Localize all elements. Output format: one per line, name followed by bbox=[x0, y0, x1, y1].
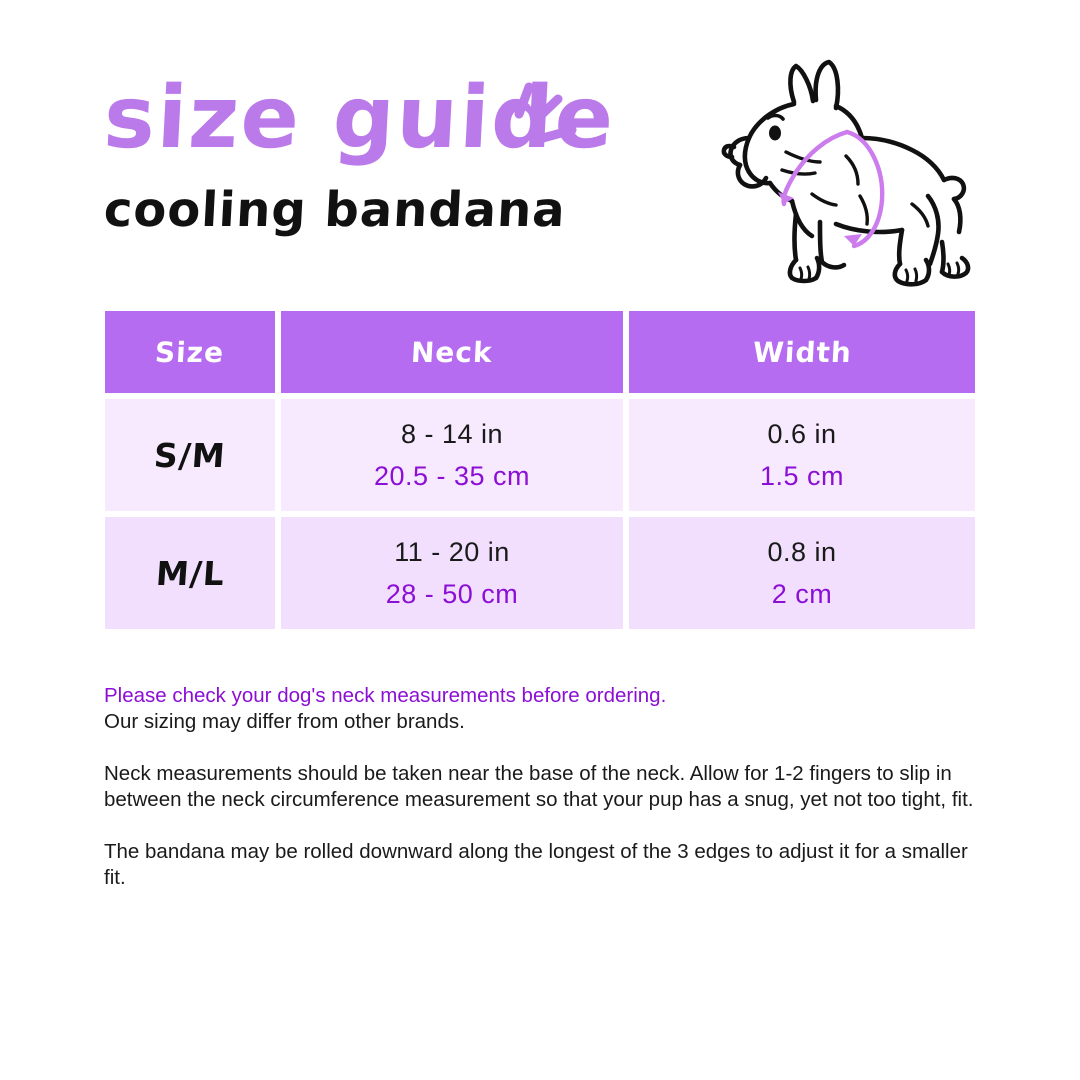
cell-size: M/L bbox=[105, 517, 275, 629]
cell-width: 0.8 in 2 cm bbox=[629, 517, 975, 629]
column-header-width: Width bbox=[629, 311, 975, 393]
neck-centimeters: 28 - 50 cm bbox=[386, 579, 519, 610]
column-header-neck-label: Neck bbox=[410, 336, 493, 369]
notes-section: Please check your dog's neck measurement… bbox=[104, 683, 979, 891]
note-sizing-differs: Our sizing may differ from other brands. bbox=[104, 709, 979, 735]
table-row: M/L 11 - 20 in 28 - 50 cm 0.8 in 2 cm bbox=[105, 517, 975, 629]
notes-spacer bbox=[104, 735, 979, 761]
width-centimeters: 2 cm bbox=[772, 579, 833, 610]
width-inches: 0.8 in bbox=[767, 537, 836, 568]
note-check-measurements: Please check your dog's neck measurement… bbox=[104, 683, 979, 709]
size-label: S/M bbox=[153, 436, 227, 475]
french-bulldog-neck-measurement-icon bbox=[716, 46, 1006, 296]
column-header-width-label: Width bbox=[752, 336, 853, 369]
column-header-neck: Neck bbox=[281, 311, 623, 393]
column-header-size: Size bbox=[105, 311, 275, 393]
cell-neck: 8 - 14 in 20.5 - 35 cm bbox=[281, 399, 623, 511]
neck-inches: 11 - 20 in bbox=[394, 537, 510, 568]
sparkle-dashes-icon bbox=[496, 72, 586, 162]
width-inches: 0.6 in bbox=[767, 419, 836, 450]
table-header-row: Size Neck Width bbox=[105, 311, 975, 393]
neck-inches: 8 - 14 in bbox=[401, 419, 503, 450]
page-subtitle: cooling bandana bbox=[103, 186, 617, 234]
cell-size: S/M bbox=[105, 399, 275, 511]
cell-width: 0.6 in 1.5 cm bbox=[629, 399, 975, 511]
size-guide-page: size guide cooling bandana bbox=[0, 0, 1080, 1080]
notes-spacer bbox=[104, 813, 979, 839]
neck-centimeters: 20.5 - 35 cm bbox=[374, 461, 530, 492]
note-measuring-instructions: Neck measurements should be taken near t… bbox=[104, 761, 979, 813]
column-header-size-label: Size bbox=[155, 336, 226, 369]
header: size guide cooling bandana bbox=[104, 78, 984, 278]
cell-neck: 11 - 20 in 28 - 50 cm bbox=[281, 517, 623, 629]
size-chart-table: Size Neck Width S/M 8 - 14 in 20.5 - 35 … bbox=[105, 311, 975, 629]
table-row: S/M 8 - 14 in 20.5 - 35 cm 0.6 in 1.5 cm bbox=[105, 399, 975, 511]
note-rolling-instructions: The bandana may be rolled downward along… bbox=[104, 839, 979, 891]
width-centimeters: 1.5 cm bbox=[760, 461, 844, 492]
size-label: M/L bbox=[154, 554, 226, 593]
